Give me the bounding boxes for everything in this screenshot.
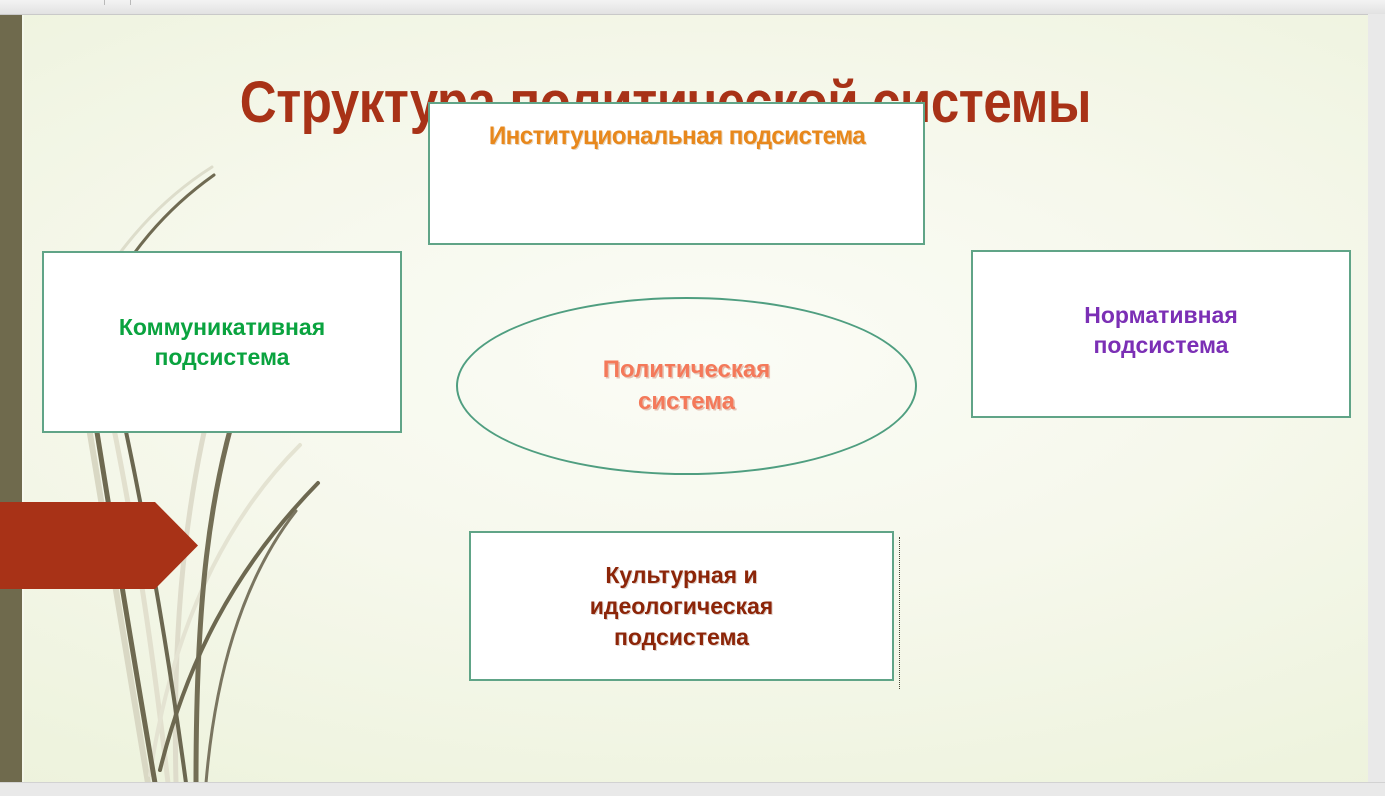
node-communicative-subsystem[interactable]: Коммуникативная подсистема xyxy=(42,251,402,433)
window-right-strip xyxy=(1368,14,1385,796)
left-accent-bar-highlight xyxy=(22,15,24,783)
node-normative-label-line1: Нормативная xyxy=(1084,302,1238,328)
node-communicative-label-line2: подсистема xyxy=(155,344,290,370)
node-political-system-label-line2: система xyxy=(638,388,735,415)
node-cultural-label-line2: идеологическая xyxy=(590,593,773,619)
node-communicative-label-line1: Коммуникативная xyxy=(119,314,325,340)
ruler-tick-2 xyxy=(130,0,131,5)
node-normative-label-line2: подсистема xyxy=(1094,332,1229,358)
node-institutional-subsystem[interactable]: Институциональная подсистема xyxy=(428,102,925,245)
window-top-strip xyxy=(0,0,1385,15)
node-political-system-center[interactable]: Политическая система xyxy=(456,297,917,475)
node-cultural-label: Культурная и идеологическая подсистема xyxy=(590,560,773,653)
presentation-window: Структура политической системы Институци… xyxy=(0,0,1385,796)
node-communicative-label: Коммуникативная подсистема xyxy=(119,312,325,372)
node-normative-subsystem[interactable]: Нормативная подсистема xyxy=(971,250,1351,418)
node-normative-label: Нормативная подсистема xyxy=(1084,300,1238,360)
right-arrow-banner[interactable] xyxy=(0,502,198,589)
node-institutional-label: Институциональная подсистема xyxy=(488,122,864,151)
node-cultural-ideological-subsystem[interactable]: Культурная и идеологическая подсистема xyxy=(469,531,894,681)
selection-guide-line xyxy=(899,537,900,689)
node-political-system-label-line1: Политическая xyxy=(603,356,771,383)
slide-canvas[interactable]: Структура политической системы Институци… xyxy=(0,15,1369,784)
ruler-tick-1 xyxy=(104,0,105,5)
node-political-system-label: Политическая система xyxy=(603,354,771,418)
left-accent-bar xyxy=(0,15,22,783)
node-cultural-label-line1: Культурная и xyxy=(605,562,757,588)
node-cultural-label-line3: подсистема xyxy=(614,624,749,650)
window-bottom-strip xyxy=(0,782,1385,796)
